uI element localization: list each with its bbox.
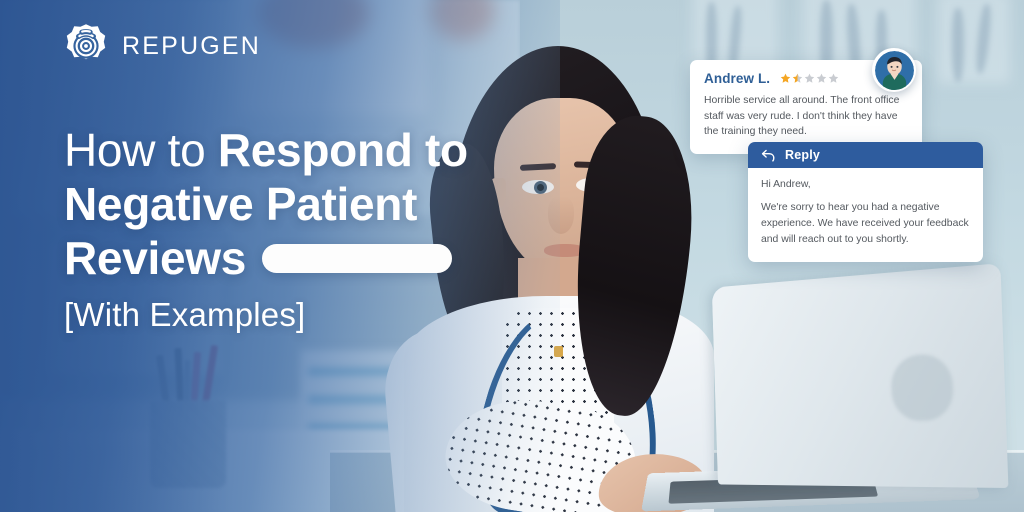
star-icon-empty (804, 73, 815, 84)
brand-logo[interactable]: REPUGEN (62, 22, 261, 70)
headline-line2: Negative Patient (64, 178, 534, 232)
subtitle: [With Examples] (64, 296, 305, 334)
review-text: Horrible service all around. The front o… (704, 93, 908, 140)
reply-header[interactable]: Reply (748, 142, 983, 168)
laptop-lid (712, 263, 1009, 488)
headline-line3: Reviews (64, 232, 246, 286)
headline-line1-light: How to (64, 124, 218, 176)
reply-label: Reply (785, 148, 820, 162)
page-title: How to Respond to Negative Patient Revie… (64, 124, 534, 285)
skeleton-graphic (952, 8, 964, 82)
laptop (656, 276, 1024, 512)
star-rating (780, 73, 839, 84)
reviewer-name: Andrew L. (704, 71, 770, 86)
brand-name: REPUGEN (122, 34, 261, 59)
star-icon-empty (816, 73, 827, 84)
reply-card[interactable]: Reply Hi Andrew, We're sorry to hear you… (748, 142, 983, 262)
decorative-pill (262, 244, 452, 273)
star-icon-full (780, 73, 791, 84)
star-icon-half (792, 73, 803, 84)
avatar (872, 48, 916, 92)
gear-signal-icon (62, 22, 110, 70)
star-icon-empty (828, 73, 839, 84)
reply-greeting: Hi Andrew, (761, 177, 970, 193)
reply-body: Hi Andrew, We're sorry to hear you had a… (748, 168, 983, 262)
user-avatar-icon (875, 51, 914, 90)
laptop-logo (890, 353, 954, 421)
anatomy-poster (935, 0, 1013, 86)
headline-line1-bold: Respond to (218, 124, 468, 176)
reply-message: We're sorry to hear you had a negative e… (761, 200, 970, 248)
reply-arrow-icon (761, 149, 776, 162)
